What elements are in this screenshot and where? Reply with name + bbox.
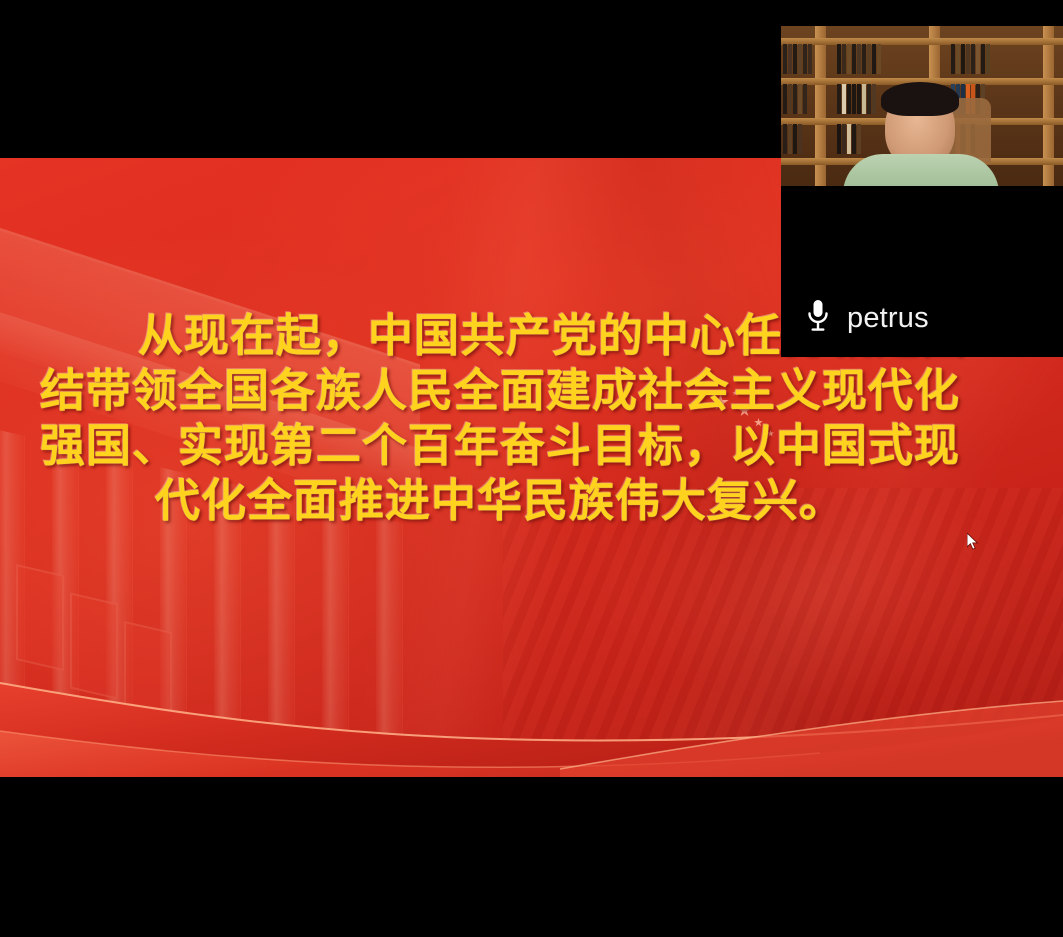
microphone-icon[interactable] [805, 298, 831, 339]
participant-torso [843, 154, 999, 186]
participant-video-tile[interactable]: petrus [781, 26, 1063, 357]
video-feed [781, 26, 1063, 186]
quote-line-4: 代化全面推进中华民族伟大复兴。 [0, 473, 1000, 528]
quote-line-2: 结带领全国各族人民全面建成社会主义现代化 [0, 363, 1000, 418]
participant-name: petrus [847, 302, 929, 335]
quote-line-3: 强国、实现第二个百年奋斗目标，以中国式现 [0, 418, 1000, 473]
participant-name-badge: petrus [805, 298, 929, 339]
meeting-stage: 从现在起，中国共产党的中心任务就是团 结带领全国各族人民全面建成社会主义现代化 … [0, 0, 1063, 937]
participant-hair [881, 82, 959, 116]
